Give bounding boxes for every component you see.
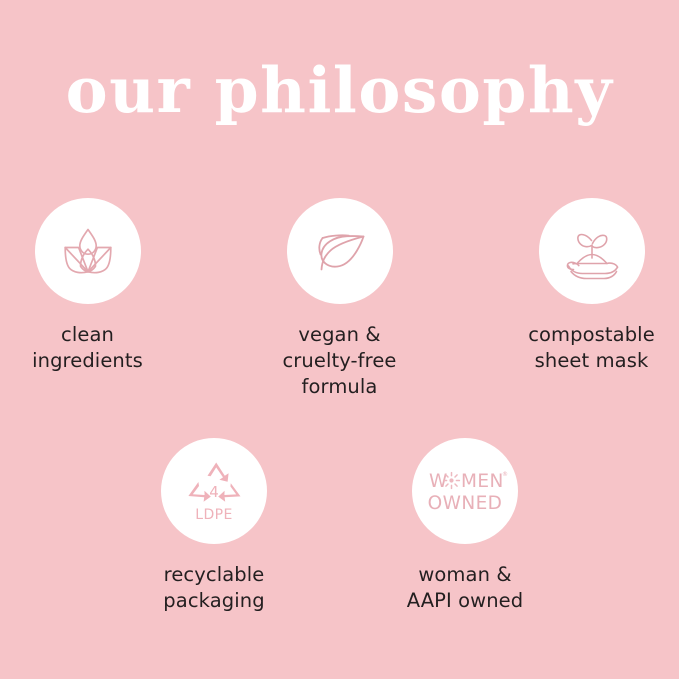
badge-caption: vegan & cruelty-free formula	[245, 322, 435, 400]
caption-line: ingredients	[0, 348, 183, 374]
caption-line: formula	[245, 374, 435, 400]
caption-line: sheet mask	[492, 348, 679, 374]
caption-line: AAPI owned	[365, 588, 565, 614]
flower-glyph	[444, 473, 460, 489]
caption-line: vegan &	[245, 322, 435, 348]
badge-circle	[287, 198, 393, 304]
badge-caption: clean ingredients	[0, 322, 183, 374]
caption-line: woman &	[365, 562, 565, 588]
trademark-symbol: ®	[502, 471, 508, 478]
caption-line: clean	[0, 322, 183, 348]
badge-circle: W MEN OWNED	[412, 438, 518, 544]
droplet-leaves-icon	[53, 216, 123, 286]
badge-circle	[539, 198, 645, 304]
badge-caption: recyclable packaging	[119, 562, 309, 614]
badge-row-one: clean ingredients	[0, 198, 679, 400]
badge-clean-ingredients: clean ingredients	[13, 198, 163, 374]
caption-line: cruelty-free	[245, 348, 435, 374]
women-owned-badge-icon: W MEN OWNED	[421, 461, 509, 521]
badge-woman-aapi-owned: W MEN OWNED	[390, 438, 540, 614]
caption-line: compostable	[492, 322, 679, 348]
badge-compostable-sheet-mask: compostable sheet mask	[517, 198, 667, 374]
caption-line: packaging	[119, 588, 309, 614]
recycle-material-label: LDPE	[195, 507, 232, 523]
badge-caption: woman & AAPI owned	[365, 562, 565, 614]
badge-circle: 4 LDPE	[161, 438, 267, 544]
badge-row-two: 4 LDPE recyclable packaging W MEN	[0, 438, 679, 614]
leaf-icon	[305, 216, 375, 286]
badge-circle	[35, 198, 141, 304]
women-owned-w: W	[429, 471, 448, 492]
caption-line: recyclable	[119, 562, 309, 588]
badge-vegan-cruelty-free: vegan & cruelty-free formula	[265, 198, 415, 400]
hand-sprout-icon	[555, 214, 629, 288]
badge-recyclable-packaging: 4 LDPE recyclable packaging	[139, 438, 289, 614]
women-owned-owned: OWNED	[428, 493, 503, 514]
philosophy-infographic: our philosophy	[0, 0, 679, 679]
recycle-ldpe-icon: 4 LDPE	[176, 453, 252, 529]
recycle-number: 4	[209, 483, 219, 501]
badge-caption: compostable sheet mask	[492, 322, 679, 374]
page-title: our philosophy	[0, 52, 679, 128]
women-owned-men: MEN	[461, 471, 504, 492]
